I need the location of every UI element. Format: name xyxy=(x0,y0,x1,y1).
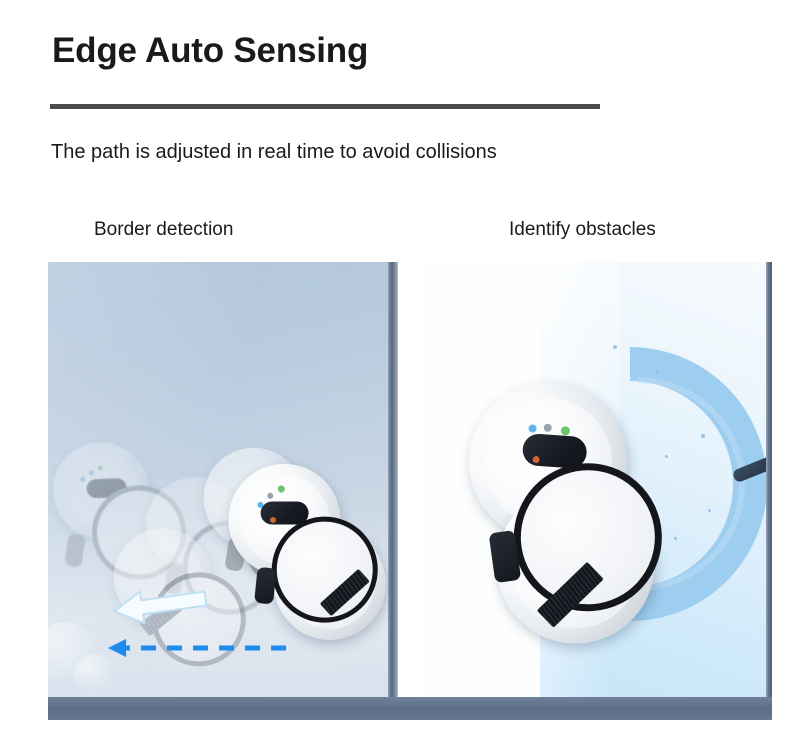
caption-identify-obstacles: Identify obstacles xyxy=(509,219,656,241)
window-frame-mullion xyxy=(388,262,398,712)
sensor-spark-icon xyxy=(701,434,705,438)
slide-root: Edge Auto Sensing The path is adjusted i… xyxy=(0,0,800,744)
direction-arrow-white xyxy=(106,584,212,626)
robot-safety-cord xyxy=(254,567,277,605)
window-frame-mullion xyxy=(766,262,772,712)
page-title: Edge Auto Sensing xyxy=(52,33,368,68)
panel-border-detection: ⏻ xyxy=(48,262,398,712)
path-arrow-dashed xyxy=(78,634,298,662)
page-subtitle: The path is adjusted in real time to avo… xyxy=(51,141,497,164)
panel-identify-obstacles: ⏻ xyxy=(420,262,772,712)
window-sill xyxy=(48,697,772,720)
sensor-spark-icon xyxy=(656,370,659,373)
title-divider xyxy=(50,104,600,109)
caption-border-detection: Border detection xyxy=(94,219,233,241)
